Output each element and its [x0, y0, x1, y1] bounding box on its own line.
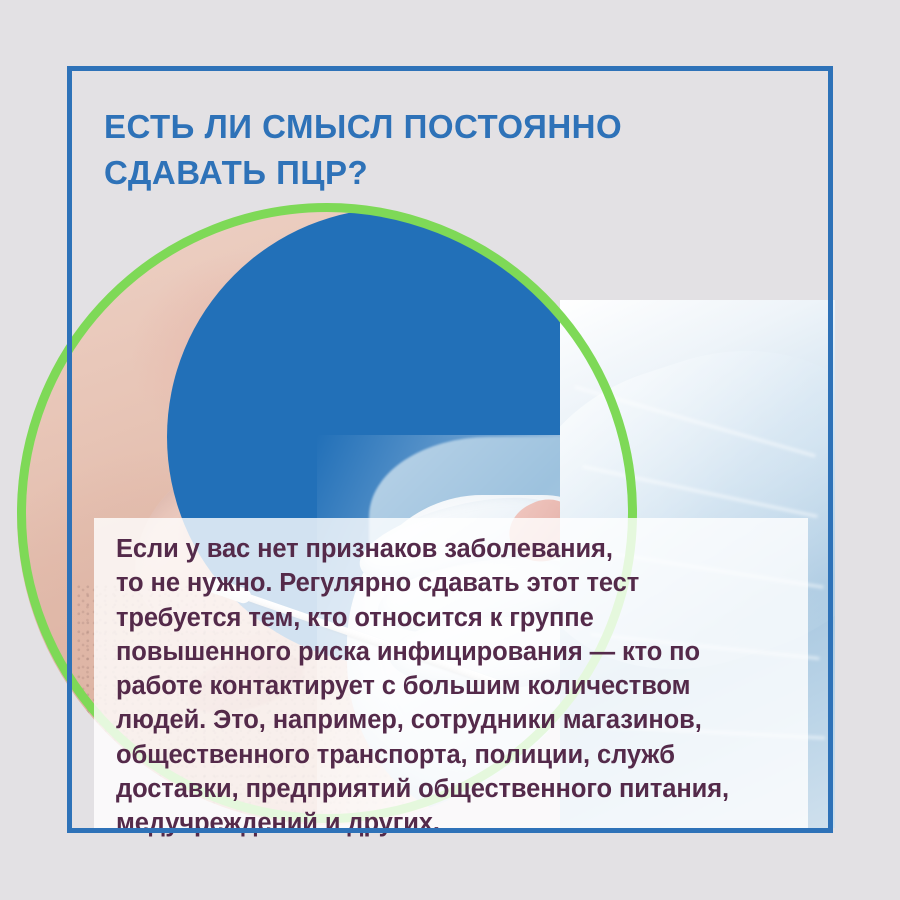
body-line: требуется тем, кто относится к группе: [116, 601, 788, 635]
body-line: работе контактирует с большим количество…: [116, 669, 788, 703]
answer-body-text: Если у вас нет признаков заболевания, то…: [116, 532, 788, 841]
title-line-1: ЕСТЬ ЛИ СМЫСЛ ПОСТОЯННО: [104, 104, 744, 150]
body-line: общественного транспорта, полиции, служб: [116, 738, 788, 772]
body-line: доставки, предприятий общественного пита…: [116, 772, 788, 806]
body-line: то не нужно. Регулярно сдавать этот тест: [116, 566, 788, 600]
answer-text-panel: Если у вас нет признаков заболевания, то…: [94, 518, 808, 828]
title-line-2: СДАВАТЬ ПЦР?: [104, 150, 744, 196]
fabric-fold: [574, 386, 815, 458]
body-line: людей. Это, например, сотрудники магазин…: [116, 703, 788, 737]
poster-canvas: ЕСТЬ ЛИ СМЫСЛ ПОСТОЯННО СДАВАТЬ ПЦР? Есл…: [0, 0, 900, 900]
page-title: ЕСТЬ ЛИ СМЫСЛ ПОСТОЯННО СДАВАТЬ ПЦР?: [104, 104, 744, 196]
body-line: Если у вас нет признаков заболевания,: [116, 532, 788, 566]
body-line: повышенного риска инфицирования — кто по: [116, 635, 788, 669]
fabric-fold: [582, 465, 817, 518]
body-line: медучреждений и других.: [116, 806, 788, 840]
